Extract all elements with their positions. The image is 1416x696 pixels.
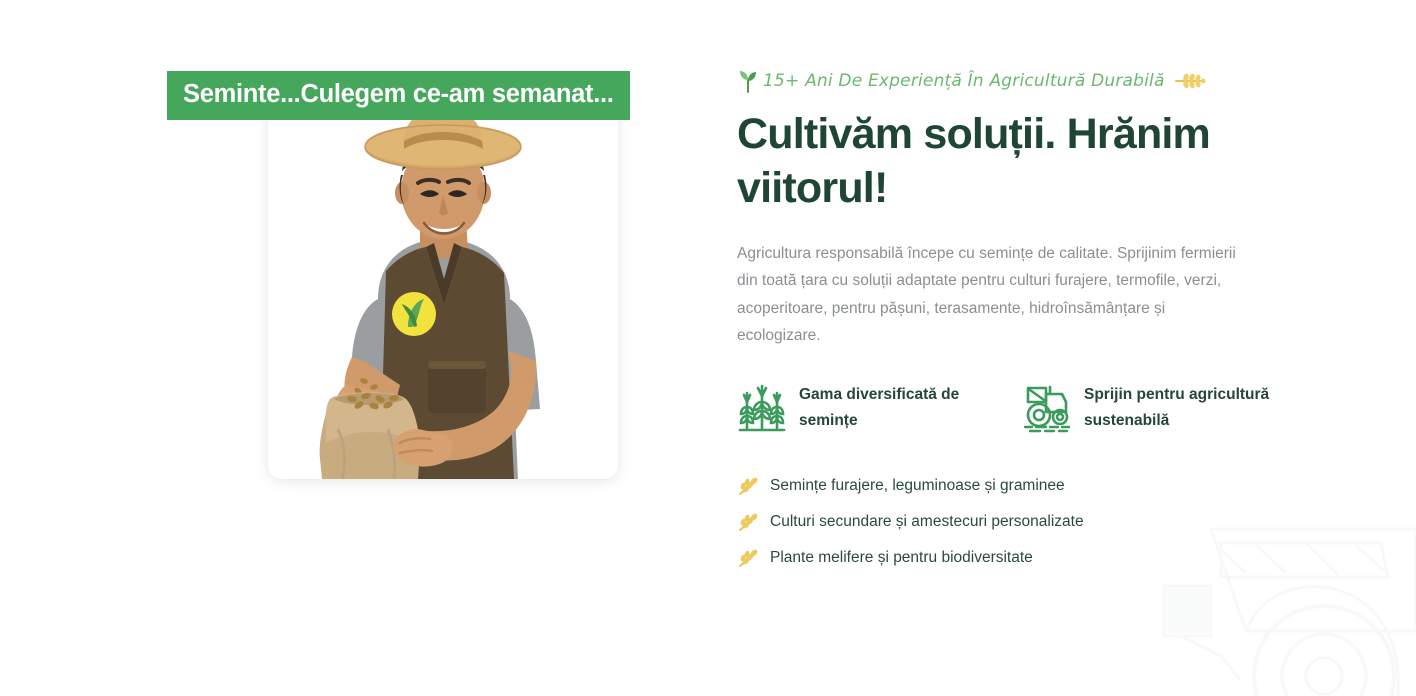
wheat-ear-icon [737,512,759,532]
feature-label: Sprijin pentru agricultură sustenabilă [1084,382,1279,433]
feature-label: Gama diversificată de semințe [799,382,994,433]
eyebrow-text: 15+ Ani De Experiență În Agricultură Dur… [763,71,1165,91]
tractor-icon [1022,382,1072,434]
eyebrow-row: 15+ Ani De Experiență În Agricultură Dur… [737,66,1297,96]
list-item-label: Semințe furajere, leguminoase și gramine… [770,476,1065,496]
list-item: Semințe furajere, leguminoase și gramine… [737,468,1297,504]
feature-list: Gama diversificată de semințe [737,382,1297,434]
wheat-field-icon [737,382,787,434]
sprout-icon [737,69,759,93]
hero-right-column: 15+ Ani De Experiență În Agricultură Dur… [737,66,1297,576]
list-item: Plante melifere și pentru biodiversitate [737,540,1297,576]
wheat-ear-icon [737,548,759,568]
farmer-photo-card [268,99,618,479]
feature-item-support: Sprijin pentru agricultură sustenabilă [1022,382,1279,434]
list-item: Culturi secundare și amestecuri personal… [737,504,1297,540]
wheat-ear-icon [737,476,759,496]
benefit-list: Semințe furajere, leguminoase și gramine… [737,468,1297,576]
hero-ribbon-title: Seminte...Culegem ce-am semanat... [167,71,630,120]
wheat-sprig-icon [1174,73,1206,89]
hero-section: Seminte...Culegem ce-am semanat... 15+ A… [0,0,1416,696]
page-title: Cultivăm soluții. Hrănim viitorul! [737,108,1267,216]
hero-description: Agricultura responsabilă începe cu semin… [737,240,1237,350]
farmer-photo [268,99,618,479]
hero-left-column: Seminte...Culegem ce-am semanat... [167,71,687,120]
feature-item-seeds: Gama diversificată de semințe [737,382,1022,434]
list-item-label: Plante melifere și pentru biodiversitate [770,548,1033,568]
list-item-label: Culturi secundare și amestecuri personal… [770,512,1084,532]
